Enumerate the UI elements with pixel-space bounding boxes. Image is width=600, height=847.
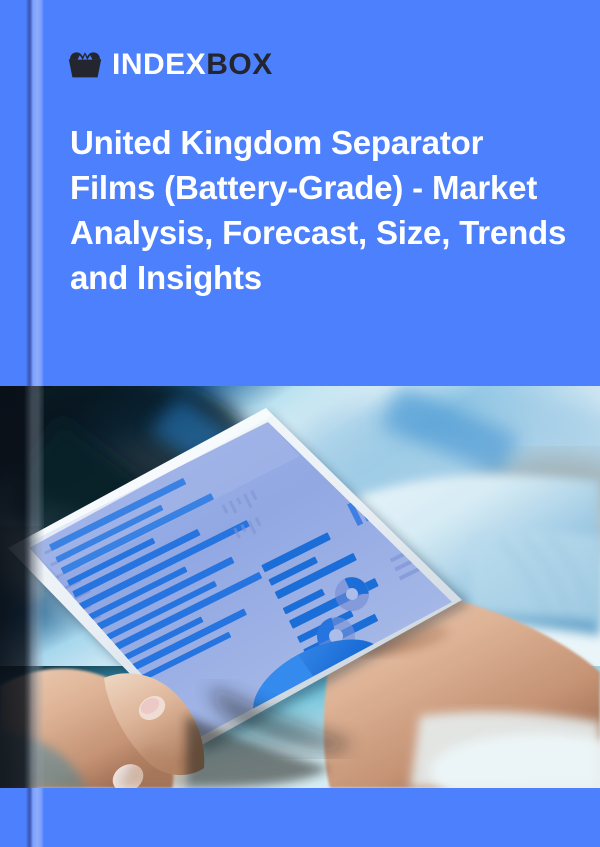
page-title: United Kingdom Separator Films (Battery-… bbox=[70, 120, 570, 300]
logo-wordmark: INDEXBOX bbox=[112, 50, 273, 80]
basket-crown-icon bbox=[68, 52, 102, 78]
logo-wordmark-index: INDEX bbox=[112, 48, 206, 81]
indexbox-logo[interactable]: INDEXBOX bbox=[68, 47, 273, 83]
footer-band bbox=[0, 788, 600, 847]
left-accent-stripe-footer bbox=[0, 788, 44, 847]
report-cover-page: INDEXBOX United Kingdom Separator Films … bbox=[0, 0, 600, 847]
logo-wordmark-box: BOX bbox=[206, 48, 273, 81]
hero-band: INDEXBOX United Kingdom Separator Films … bbox=[0, 0, 600, 386]
cover-photo bbox=[0, 386, 600, 788]
